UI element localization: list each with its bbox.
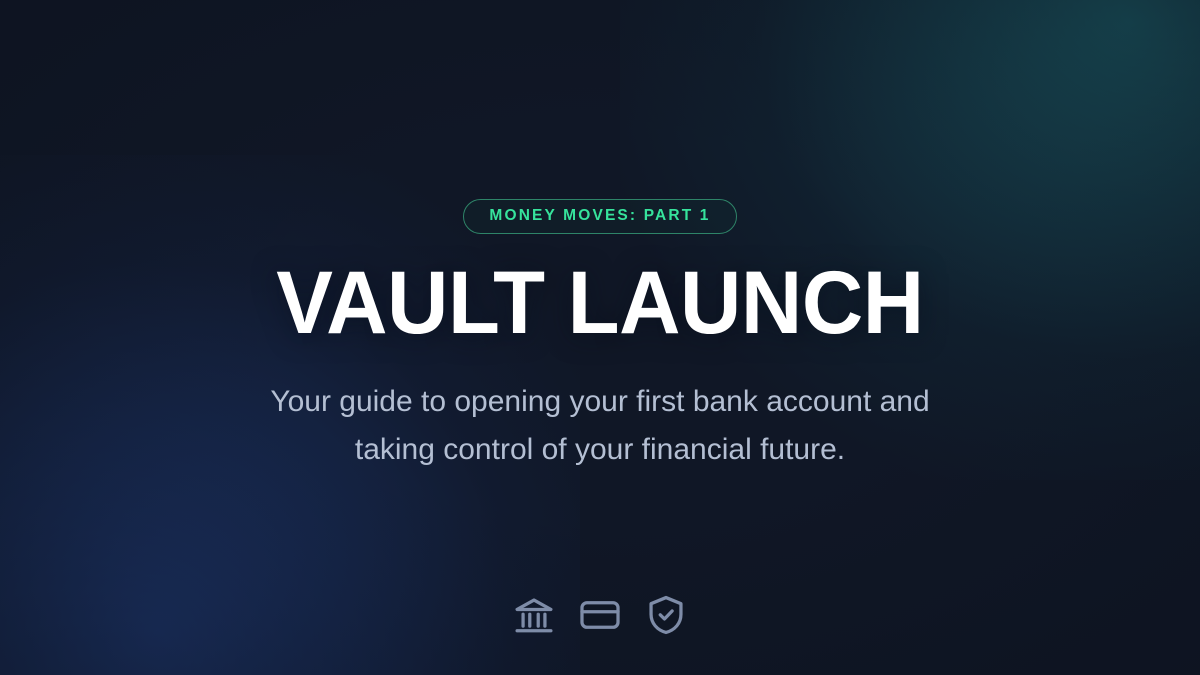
- title-slide: MONEY MOVES: PART 1 VAULT LAUNCH Your gu…: [0, 0, 1200, 675]
- subtitle-line-2: taking control of your financial future.: [190, 426, 1010, 474]
- credit-card-icon: [577, 592, 623, 638]
- subtitle-line-1: Your guide to opening your first bank ac…: [190, 378, 1010, 426]
- slide-content: MONEY MOVES: PART 1 VAULT LAUNCH Your gu…: [0, 0, 1200, 675]
- bank-icon: [511, 592, 557, 638]
- slide-subtitle: Your guide to opening your first bank ac…: [190, 378, 1010, 474]
- icon-row: [0, 592, 1200, 638]
- slide-title: VAULT LAUNCH: [276, 258, 923, 347]
- series-badge: MONEY MOVES: PART 1: [463, 199, 736, 234]
- shield-check-icon: [643, 592, 689, 638]
